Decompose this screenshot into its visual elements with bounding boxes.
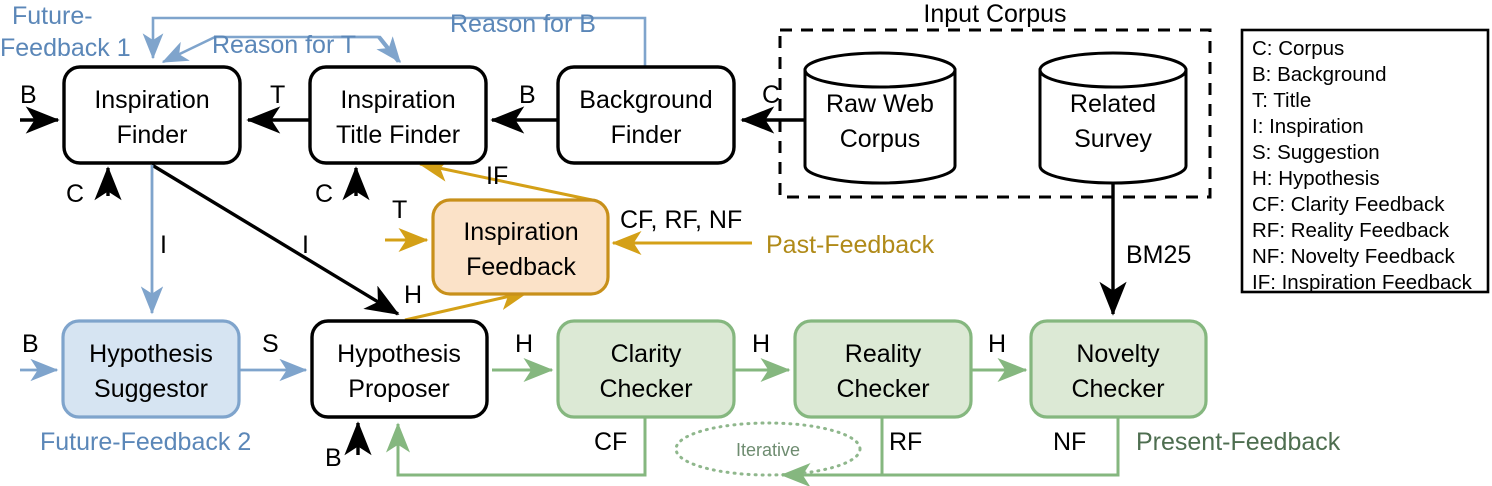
annotation-present-feedback: Present-Feedback — [1136, 428, 1341, 456]
edge-label-nf-from-novelty: NF — [1053, 428, 1086, 456]
edge-label-b-into-suggestor: B — [22, 330, 39, 358]
edge-label-t-title-to-finder: T — [270, 81, 285, 109]
edge-label-c-corpus-to-background: C — [762, 81, 780, 109]
edge-label-s-suggestor-to-proposer: S — [262, 330, 279, 358]
legend-item-0: C: Corpus — [1252, 37, 1344, 60]
edge-label-b-background-to-title: B — [519, 81, 536, 109]
node-label-hypothesis-suggestor-l2: Suggestor — [94, 375, 208, 403]
node-label-background-finder-l2: Finder — [611, 121, 682, 149]
legend-item-4: S: Suggestion — [1252, 141, 1380, 164]
annotation-iterative: Iterative — [736, 440, 800, 460]
annotation-future-feedback-1-l2: Feedback 1 — [0, 34, 131, 62]
node-label-novelty-checker-l2: Checker — [1071, 375, 1164, 403]
node-label-clarity-checker-l2: Checker — [599, 375, 692, 403]
annotation-reason-for-t: Reason for T — [212, 31, 356, 59]
edge-label-c-under-inspiration-finder: C — [66, 180, 84, 208]
edge-label-i-finder-to-proposer: I — [302, 231, 309, 259]
edge-label-rf-from-reality: RF — [889, 428, 922, 456]
node-label-hypothesis-suggestor-l1: Hypothesis — [89, 340, 213, 368]
edge-label-i-finder-to-suggestor: I — [160, 231, 167, 259]
legend-item-8: NF: Novelty Feedback — [1252, 245, 1456, 268]
node-label-raw-web-corpus-l2: Corpus — [840, 125, 921, 153]
legend-item-7: RF: Reality Feedback — [1252, 219, 1450, 242]
node-label-hypothesis-proposer-l2: Proposer — [348, 375, 449, 403]
node-label-inspiration-finder-l2: Finder — [117, 121, 188, 149]
edge-label-t-to-inspiration-feedback: T — [392, 196, 407, 224]
node-label-inspiration-finder-l1: Inspiration — [94, 86, 209, 114]
edge-label-b-inspiration-finder: B — [20, 81, 37, 109]
node-label-inspiration-feedback-l2: Feedback — [466, 253, 576, 281]
annotation-reason-for-b: Reason for B — [450, 10, 596, 38]
node-label-inspiration-title-finder-l1: Inspiration — [340, 86, 455, 114]
legend-item-2: T: Title — [1252, 89, 1311, 112]
annotation-past-feedback: Past-Feedback — [766, 231, 935, 259]
node-label-hypothesis-proposer-l1: Hypothesis — [337, 340, 461, 368]
annotation-future-feedback-1-l1: Future- — [12, 2, 93, 30]
node-label-inspiration-title-finder-l2: Title Finder — [336, 121, 460, 149]
diagram-canvas: Inspiration Finder Inspiration Title Fin… — [0, 0, 1492, 486]
edge-label-b-under-proposer: B — [325, 444, 342, 472]
node-label-raw-web-corpus-l1: Raw Web — [826, 90, 934, 118]
edge-label-bm25: BM25 — [1126, 241, 1191, 269]
legend-item-3: I: Inspiration — [1252, 115, 1364, 138]
edge-label-cf-rf-nf: CF, RF, NF — [620, 206, 742, 234]
annotation-input-corpus: Input Corpus — [923, 0, 1066, 28]
raw-web-corpus-cylinder — [805, 53, 955, 183]
node-label-related-survey-l1: Related — [1070, 90, 1156, 118]
node-label-related-survey-l2: Survey — [1074, 125, 1152, 153]
edge-label-c-under-title-finder: C — [315, 180, 333, 208]
edge-label-if: IF — [486, 162, 508, 190]
edge-label-h-proposer-to-clarity: H — [515, 330, 533, 358]
legend-item-1: B: Background — [1252, 63, 1386, 86]
legend-item-5: H: Hypothesis — [1252, 167, 1380, 190]
legend-item-6: CF: Clarity Feedback — [1252, 193, 1445, 216]
node-label-clarity-checker-l1: Clarity — [611, 340, 682, 368]
annotation-future-feedback-2: Future-Feedback 2 — [40, 428, 251, 456]
edge-label-h-to-inspiration-feedback: H — [404, 281, 422, 309]
edge-label-h-reality-to-novelty: H — [988, 330, 1006, 358]
edge-label-cf-from-clarity: CF — [594, 428, 627, 456]
node-label-reality-checker-l1: Reality — [845, 340, 922, 368]
edge-label-h-clarity-to-reality: H — [752, 330, 770, 358]
node-label-novelty-checker-l1: Novelty — [1076, 340, 1160, 368]
node-label-background-finder-l1: Background — [579, 86, 712, 114]
node-label-inspiration-feedback-l1: Inspiration — [463, 218, 578, 246]
node-label-reality-checker-l2: Checker — [836, 375, 929, 403]
legend-item-9: IF: Inspiration Feedback — [1252, 271, 1473, 294]
